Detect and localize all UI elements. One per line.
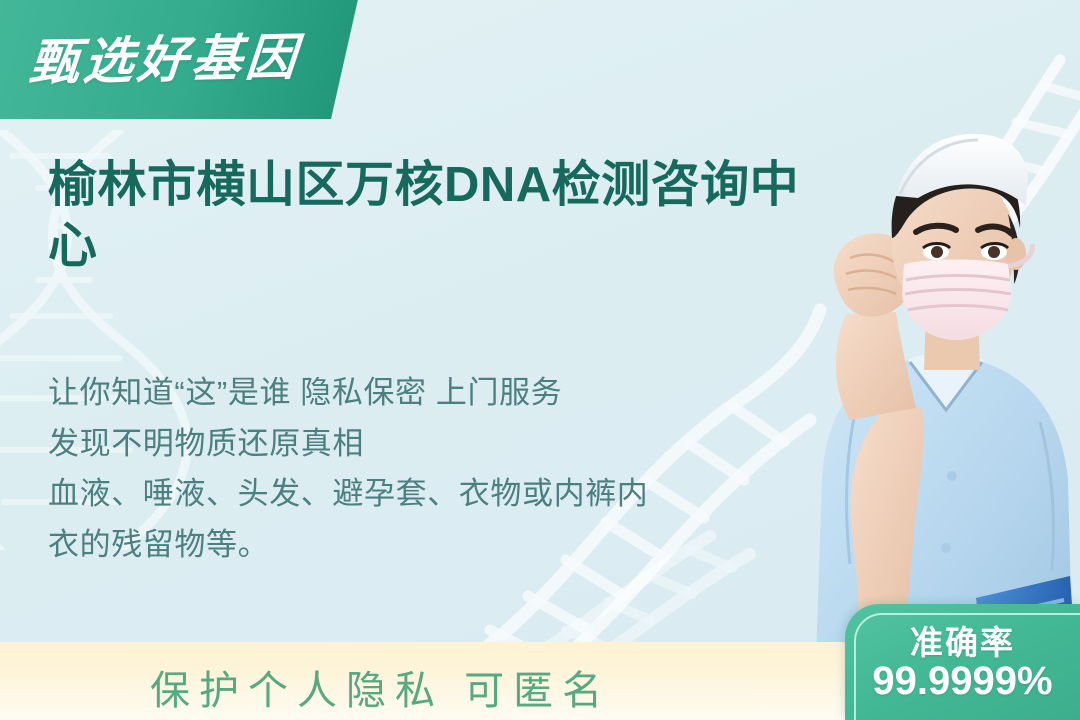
privacy-slogan: 保护个人隐私 可匿名 xyxy=(150,658,611,716)
brand-logo-text: 甄选好基因 xyxy=(27,17,304,95)
accuracy-badge: 准确率 99.9999% xyxy=(845,604,1080,720)
brand-banner: 甄选好基因 xyxy=(0,0,361,119)
description-line: 血液、唾液、头发、避孕套、衣物或内裤内 xyxy=(48,469,768,520)
description-line: 衣的残留物等。 xyxy=(48,520,768,571)
description-block: 让你知道“这”是谁 隐私保密 上门服务 发现不明物质还原真相 血液、唾液、头发、… xyxy=(48,368,768,570)
description-line: 发现不明物质还原真相 xyxy=(48,419,768,470)
accuracy-label: 准确率 xyxy=(845,616,1080,664)
description-line: 让你知道“这”是谁 隐私保密 上门服务 xyxy=(48,368,768,419)
promo-poster: 甄选好基因 榆林市横山区万核DNA检测咨询中心 让你知道“这”是谁 隐私保密 上… xyxy=(0,0,1080,720)
page-title: 榆林市横山区万核DNA检测咨询中心 xyxy=(48,155,838,277)
accuracy-value: 99.9999% xyxy=(845,659,1080,704)
